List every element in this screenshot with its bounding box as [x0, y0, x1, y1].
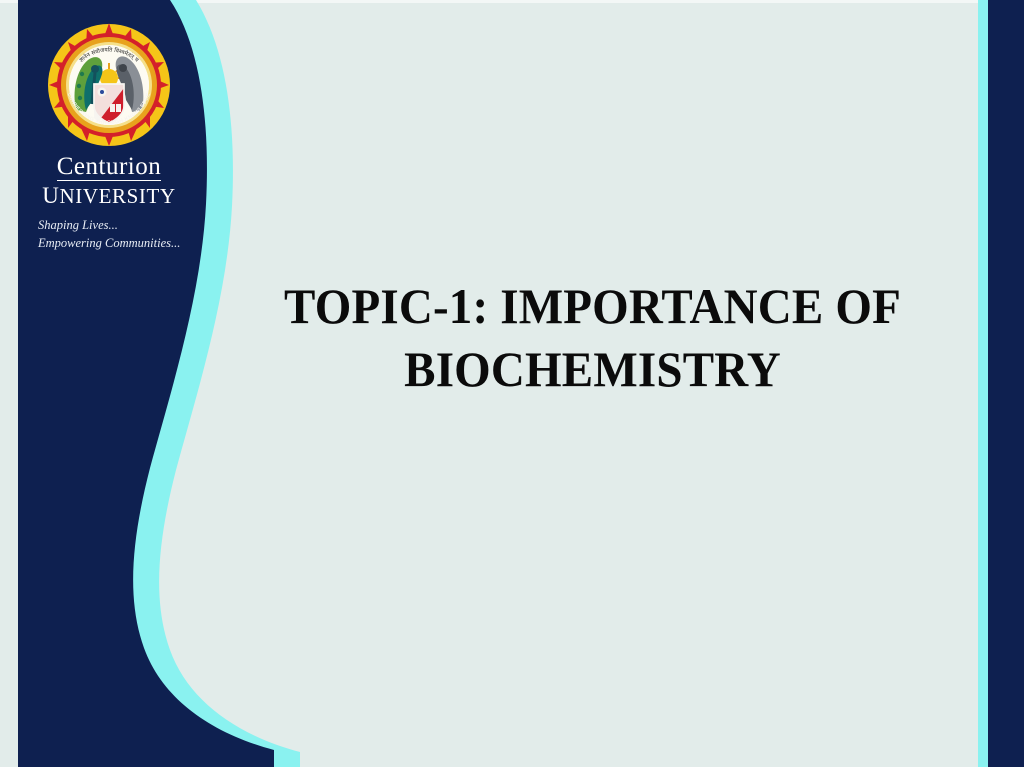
slide-title-area: TOPIC-1: IMPORTANCE OF BIOCHEMISTRY — [215, 275, 970, 401]
wordmark-university-cap: U — [42, 183, 59, 208]
tagline-line-2: Empowering Communities... — [38, 234, 184, 252]
emblem-book-icon — [110, 104, 121, 112]
page-title: TOPIC-1: IMPORTANCE OF BIOCHEMISTRY — [238, 275, 948, 401]
tagline-line-1: Shaping Lives... — [38, 216, 184, 234]
wordmark-university-rest: NIVERSITY — [59, 184, 175, 208]
emblem-svg: CONNECTING THROUGH KNOWLEDGE ज्ञानेन संय… — [46, 22, 172, 148]
university-tagline: Shaping Lives... Empowering Communities.… — [34, 216, 184, 252]
wordmark-centurion: Centurion — [57, 154, 162, 181]
emblem-microscope-icon — [98, 88, 107, 97]
presentation-slide: CONNECTING THROUGH KNOWLEDGE ज्ञानेन संय… — [0, 0, 1024, 767]
right-navy-bar — [988, 0, 1024, 767]
university-wordmark: Centurion UNIVERSITY — [34, 154, 184, 207]
university-emblem-icon: CONNECTING THROUGH KNOWLEDGE ज्ञानेन संय… — [46, 22, 172, 148]
university-branding: CONNECTING THROUGH KNOWLEDGE ज्ञानेन संय… — [34, 22, 184, 252]
wordmark-university: UNIVERSITY — [34, 184, 184, 207]
right-cyan-stripe — [978, 0, 989, 767]
